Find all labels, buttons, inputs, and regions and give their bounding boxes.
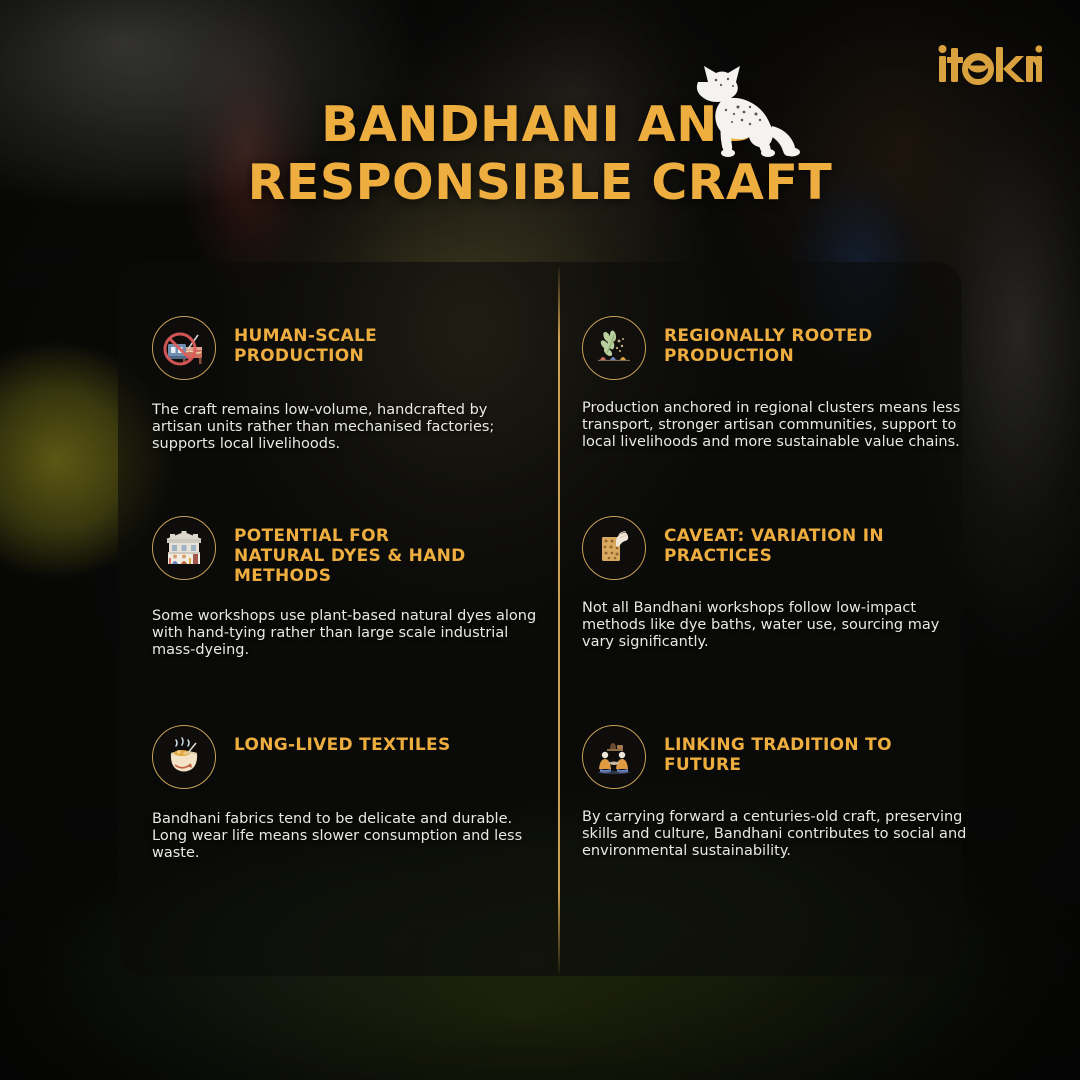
feature-human-scale-production[interactable]: HUMAN-SCALE PRODUCTION The craft remains… (152, 316, 552, 452)
feature-body: The craft remains low-volume, handcrafte… (152, 402, 542, 452)
no-factory-icon (152, 316, 216, 380)
feature-title: LONG-LIVED TEXTILES (234, 725, 451, 755)
feature-header: CAVEAT: VARIATION IN PRACTICES (582, 516, 982, 580)
feature-linking-tradition-to-future[interactable]: LINKING TRADITION TO FUTURE By carrying … (582, 725, 982, 859)
feature-header: LINKING TRADITION TO FUTURE (582, 725, 982, 789)
natural-dye-leaves-icon (582, 316, 646, 380)
feature-body: By carrying forward a centuries-old craf… (582, 809, 972, 859)
feature-long-lived-textiles[interactable]: LONG-LIVED TEXTILES Bandhani fabrics ten… (152, 725, 552, 861)
feature-body: Production anchored in regional clusters… (582, 400, 972, 450)
feature-body: Not all Bandhani workshops follow low-im… (582, 600, 972, 650)
hand-holding-fabric-icon (582, 516, 646, 580)
workshop-building-icon (152, 516, 216, 580)
feature-caveat-variation-in-practices[interactable]: CAVEAT: VARIATION IN PRACTICES Not all B… (582, 516, 982, 650)
infographic-poster: BANDHANI AND RESPONSIBLE CRAFT (0, 0, 1080, 1080)
feature-header: POTENTIAL FOR NATURAL DYES & HAND METHOD… (152, 516, 552, 586)
feature-header: REGIONALLY ROOTED PRODUCTION (582, 316, 982, 380)
feature-header: LONG-LIVED TEXTILES (152, 725, 552, 789)
feature-title: LINKING TRADITION TO FUTURE (664, 725, 922, 775)
two-artisans-icon (582, 725, 646, 789)
feature-title: CAVEAT: VARIATION IN PRACTICES (664, 516, 922, 566)
feature-body: Some workshops use plant-based natural d… (152, 608, 542, 658)
steaming-dye-pot-icon (152, 725, 216, 789)
feature-natural-dyes-hand-methods[interactable]: POTENTIAL FOR NATURAL DYES & HAND METHOD… (152, 516, 552, 659)
feature-header: HUMAN-SCALE PRODUCTION (152, 316, 552, 380)
feature-grid: HUMAN-SCALE PRODUCTION The craft remains… (0, 0, 1080, 1080)
feature-title: HUMAN-SCALE PRODUCTION (234, 316, 484, 366)
feature-title: POTENTIAL FOR NATURAL DYES & HAND METHOD… (234, 516, 484, 586)
feature-title: REGIONALLY ROOTED PRODUCTION (664, 316, 922, 366)
feature-body: Bandhani fabrics tend to be delicate and… (152, 811, 542, 861)
feature-regionally-rooted-production[interactable]: REGIONALLY ROOTED PRODUCTION Production … (582, 316, 982, 450)
